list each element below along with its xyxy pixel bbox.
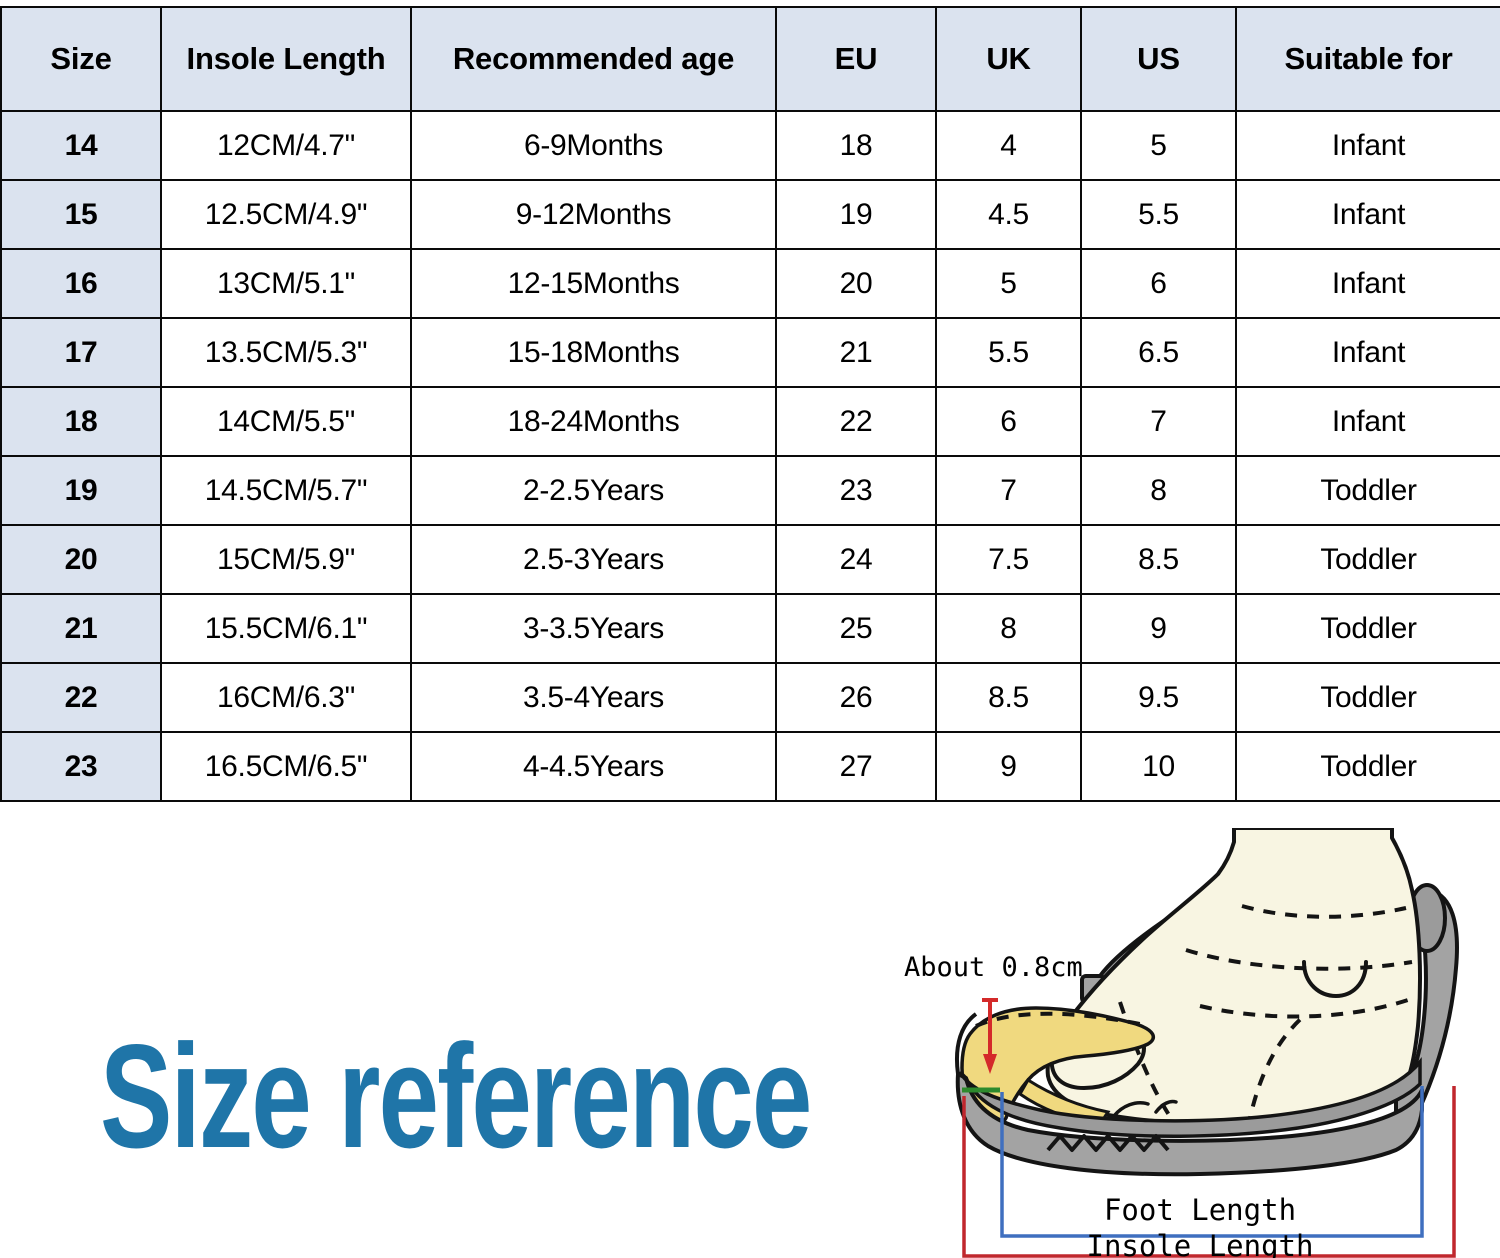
cell-size: 20 bbox=[1, 525, 161, 594]
table-row: 16 13CM/5.1" 12-15Months 20 5 6 Infant bbox=[1, 249, 1500, 318]
cell-insole: 12CM/4.7" bbox=[161, 111, 411, 180]
cell-us: 5.5 bbox=[1081, 180, 1236, 249]
column-header-us: US bbox=[1081, 7, 1236, 111]
cell-insole: 13.5CM/5.3" bbox=[161, 318, 411, 387]
cell-age: 6-9Months bbox=[411, 111, 776, 180]
cell-suitable: Toddler bbox=[1236, 732, 1500, 801]
cell-uk: 5 bbox=[936, 249, 1081, 318]
cell-eu: 23 bbox=[776, 456, 936, 525]
cell-insole: 14.5CM/5.7" bbox=[161, 456, 411, 525]
cell-uk: 8.5 bbox=[936, 663, 1081, 732]
cell-age: 4-4.5Years bbox=[411, 732, 776, 801]
cell-insole: 14CM/5.5" bbox=[161, 387, 411, 456]
table-row: 18 14CM/5.5" 18-24Months 22 6 7 Infant bbox=[1, 387, 1500, 456]
cell-uk: 7 bbox=[936, 456, 1081, 525]
cell-us: 5 bbox=[1081, 111, 1236, 180]
insole-length-label: Insole Length bbox=[1087, 1229, 1314, 1258]
cell-age: 9-12Months bbox=[411, 180, 776, 249]
cell-eu: 22 bbox=[776, 387, 936, 456]
cell-uk: 6 bbox=[936, 387, 1081, 456]
cell-uk: 4 bbox=[936, 111, 1081, 180]
cell-insole: 15.5CM/6.1" bbox=[161, 594, 411, 663]
cell-us: 7 bbox=[1081, 387, 1236, 456]
cell-suitable: Infant bbox=[1236, 180, 1500, 249]
cell-insole: 16CM/6.3" bbox=[161, 663, 411, 732]
table-row: 19 14.5CM/5.7" 2-2.5Years 23 7 8 Toddler bbox=[1, 456, 1500, 525]
toe-gap-label: About 0.8cm bbox=[904, 952, 1083, 983]
cell-us: 9 bbox=[1081, 594, 1236, 663]
cell-size: 22 bbox=[1, 663, 161, 732]
cell-eu: 25 bbox=[776, 594, 936, 663]
cell-insole: 16.5CM/6.5" bbox=[161, 732, 411, 801]
cell-size: 16 bbox=[1, 249, 161, 318]
table-body: 14 12CM/4.7" 6-9Months 18 4 5 Infant 15 … bbox=[1, 111, 1500, 801]
cell-uk: 7.5 bbox=[936, 525, 1081, 594]
cell-suitable: Infant bbox=[1236, 387, 1500, 456]
column-header-age: Recommended age bbox=[411, 7, 776, 111]
cell-suitable: Toddler bbox=[1236, 525, 1500, 594]
cell-suitable: Infant bbox=[1236, 249, 1500, 318]
cell-size: 14 bbox=[1, 111, 161, 180]
cell-size: 19 bbox=[1, 456, 161, 525]
table-row: 20 15CM/5.9" 2.5-3Years 24 7.5 8.5 Toddl… bbox=[1, 525, 1500, 594]
cell-size: 21 bbox=[1, 594, 161, 663]
cell-us: 10 bbox=[1081, 732, 1236, 801]
cell-insole: 12.5CM/4.9" bbox=[161, 180, 411, 249]
table-header-row: Size Insole Length Recommended age EU UK… bbox=[1, 7, 1500, 111]
column-header-suitable: Suitable for bbox=[1236, 7, 1500, 111]
cell-age: 2-2.5Years bbox=[411, 456, 776, 525]
cell-eu: 21 bbox=[776, 318, 936, 387]
cell-uk: 8 bbox=[936, 594, 1081, 663]
cell-us: 6.5 bbox=[1081, 318, 1236, 387]
cell-size: 23 bbox=[1, 732, 161, 801]
table-row: 22 16CM/6.3" 3.5-4Years 26 8.5 9.5 Toddl… bbox=[1, 663, 1500, 732]
cell-uk: 4.5 bbox=[936, 180, 1081, 249]
cell-eu: 27 bbox=[776, 732, 936, 801]
column-header-size: Size bbox=[1, 7, 161, 111]
table-row: 23 16.5CM/6.5" 4-4.5Years 27 9 10 Toddle… bbox=[1, 732, 1500, 801]
cell-age: 15-18Months bbox=[411, 318, 776, 387]
page-title: Size reference bbox=[100, 1012, 810, 1182]
cell-insole: 15CM/5.9" bbox=[161, 525, 411, 594]
cell-eu: 19 bbox=[776, 180, 936, 249]
shoe-fit-diagram: About 0.8cm Foot Length Insole Length bbox=[900, 828, 1500, 1258]
cell-suitable: Toddler bbox=[1236, 663, 1500, 732]
table-header: Size Insole Length Recommended age EU UK… bbox=[1, 7, 1500, 111]
cell-size: 15 bbox=[1, 180, 161, 249]
cell-age: 3.5-4Years bbox=[411, 663, 776, 732]
cell-age: 2.5-3Years bbox=[411, 525, 776, 594]
cell-eu: 24 bbox=[776, 525, 936, 594]
cell-us: 6 bbox=[1081, 249, 1236, 318]
cell-suitable: Toddler bbox=[1236, 456, 1500, 525]
cell-age: 12-15Months bbox=[411, 249, 776, 318]
size-table: Size Insole Length Recommended age EU UK… bbox=[0, 6, 1500, 802]
cell-age: 3-3.5Years bbox=[411, 594, 776, 663]
cell-uk: 9 bbox=[936, 732, 1081, 801]
cell-us: 8 bbox=[1081, 456, 1236, 525]
cell-eu: 26 bbox=[776, 663, 936, 732]
size-chart-page: Size Insole Length Recommended age EU UK… bbox=[0, 0, 1500, 1258]
cell-suitable: Toddler bbox=[1236, 594, 1500, 663]
cell-insole: 13CM/5.1" bbox=[161, 249, 411, 318]
column-header-eu: EU bbox=[776, 7, 936, 111]
cell-uk: 5.5 bbox=[936, 318, 1081, 387]
cell-us: 8.5 bbox=[1081, 525, 1236, 594]
cell-suitable: Infant bbox=[1236, 318, 1500, 387]
table-row: 21 15.5CM/6.1" 3-3.5Years 25 8 9 Toddler bbox=[1, 594, 1500, 663]
table-row: 14 12CM/4.7" 6-9Months 18 4 5 Infant bbox=[1, 111, 1500, 180]
size-table-container: Size Insole Length Recommended age EU UK… bbox=[0, 6, 1500, 802]
column-header-uk: UK bbox=[936, 7, 1081, 111]
cell-size: 17 bbox=[1, 318, 161, 387]
foot-length-label: Foot Length bbox=[1104, 1193, 1296, 1227]
cell-size: 18 bbox=[1, 387, 161, 456]
table-row: 17 13.5CM/5.3" 15-18Months 21 5.5 6.5 In… bbox=[1, 318, 1500, 387]
table-row: 15 12.5CM/4.9" 9-12Months 19 4.5 5.5 Inf… bbox=[1, 180, 1500, 249]
cell-eu: 18 bbox=[776, 111, 936, 180]
cell-suitable: Infant bbox=[1236, 111, 1500, 180]
cell-us: 9.5 bbox=[1081, 663, 1236, 732]
column-header-insole: Insole Length bbox=[161, 7, 411, 111]
cell-eu: 20 bbox=[776, 249, 936, 318]
foot-graphic bbox=[1048, 828, 1420, 1128]
cell-age: 18-24Months bbox=[411, 387, 776, 456]
